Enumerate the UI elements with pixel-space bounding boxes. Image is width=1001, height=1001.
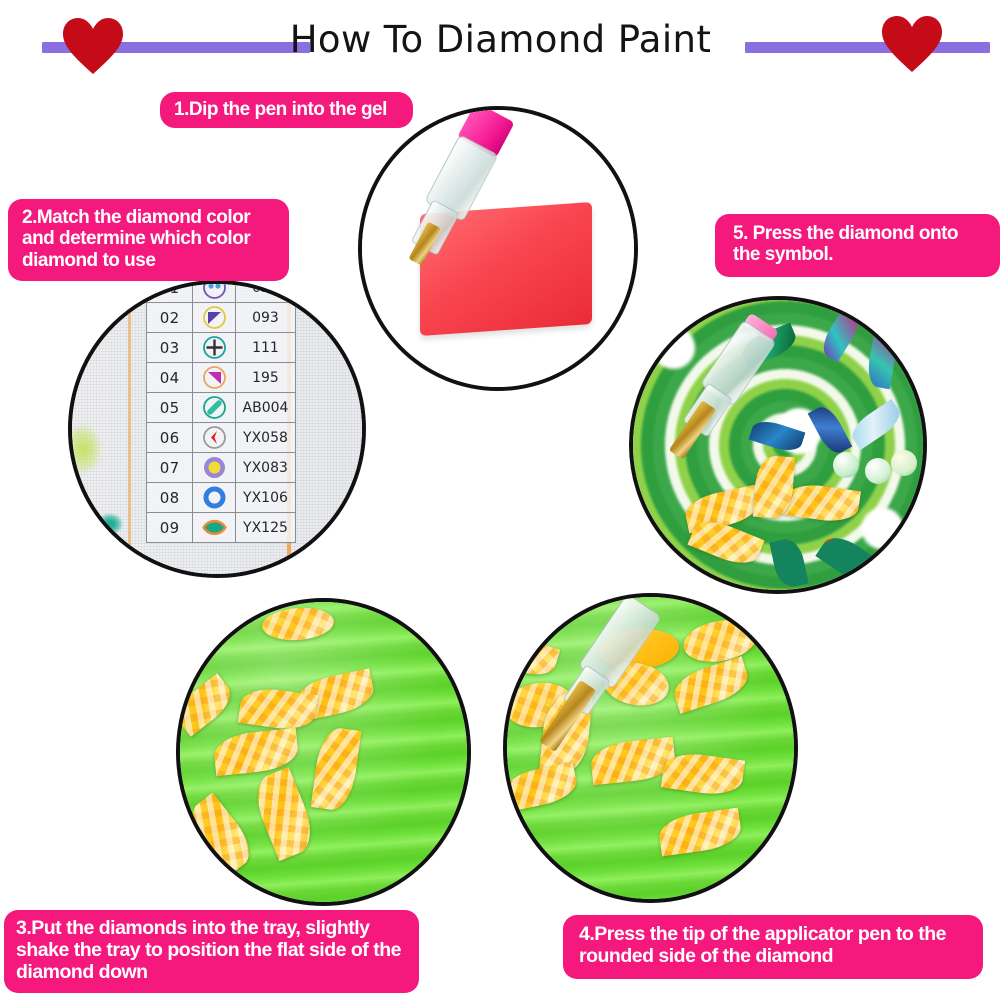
color-chart-code: 02 [147,303,193,333]
photo-diamonds-in-tray [176,598,471,906]
gem-round-ab [865,458,891,484]
color-chart-dmc: YX125 [235,513,295,543]
color-chart-row: 08YX106 [147,483,296,513]
color-chart-code: 09 [147,513,193,543]
color-chart-row: 03111 [147,333,296,363]
color-chart-table: 0102002093031110419505AB00406YX05807YX08… [146,280,296,543]
color-chart-code: 01 [147,280,193,303]
color-chart-code: 07 [147,453,193,483]
color-chart-dmc: YX083 [235,453,295,483]
color-chart-dmc: 020 [235,280,295,303]
step-4-label: 4.Press the tip of the applicator pen to… [563,915,983,979]
color-chart-code: 03 [147,333,193,363]
slash-circle-symbol [193,393,236,423]
color-chart-row: 04195 [147,363,296,393]
step-5-label: 5. Press the diamond onto the symbol. [715,214,1000,277]
plus-circle-symbol [193,333,236,363]
color-chart-row: 05AB004 [147,393,296,423]
color-chart-dmc: 111 [235,333,295,363]
gem-round-ab [833,452,859,478]
left-chevron-circle-symbol [193,423,236,453]
color-chart-code: 06 [147,423,193,453]
step-2-label: 2.Match the diamond color and determine … [8,199,289,281]
step-1-label: 1.Dip the pen into the gel [160,92,413,128]
canvas-margin-line [128,284,131,574]
color-chart-row: 09YX125 [147,513,296,543]
color-chart-dmc: 195 [235,363,295,393]
canvas-teal-print-blob [98,514,122,534]
photo-dip-pen-into-gel [358,106,638,391]
color-chart-row: 01020 [147,280,296,303]
color-chart-row: 06YX058 [147,423,296,453]
step-3-label: 3.Put the diamonds into the tray, slight… [4,910,419,993]
gem-round-ab [891,450,917,476]
color-chart-dmc: YX058 [235,423,295,453]
header-banner: How To Diamond Paint [0,0,1001,88]
photo-press-pen-to-diamond [503,593,798,903]
color-chart-dmc: AB004 [235,393,295,423]
triangle-circle-symbol [193,303,236,333]
color-chart-code: 08 [147,483,193,513]
color-chart-body: 0102002093031110419505AB00406YX05807YX08… [147,280,296,543]
leaf-symbol [193,513,236,543]
color-chart-row: 07YX083 [147,453,296,483]
color-chart-dmc: 093 [235,303,295,333]
photo-color-chart: 0102002093031110419505AB00406YX05807YX08… [68,280,366,578]
page-title: How To Diamond Paint [0,18,1001,61]
double-dot-circle-symbol [193,280,236,303]
magenta-triangle-circle-symbol [193,363,236,393]
color-chart-code: 05 [147,393,193,423]
dot-in-ring-symbol [193,453,236,483]
color-chart-dmc: YX106 [235,483,295,513]
color-chart-row: 02093 [147,303,296,333]
photo-press-diamond-onto-symbol [629,296,927,594]
open-ring-symbol [193,483,236,513]
color-chart-code: 04 [147,363,193,393]
